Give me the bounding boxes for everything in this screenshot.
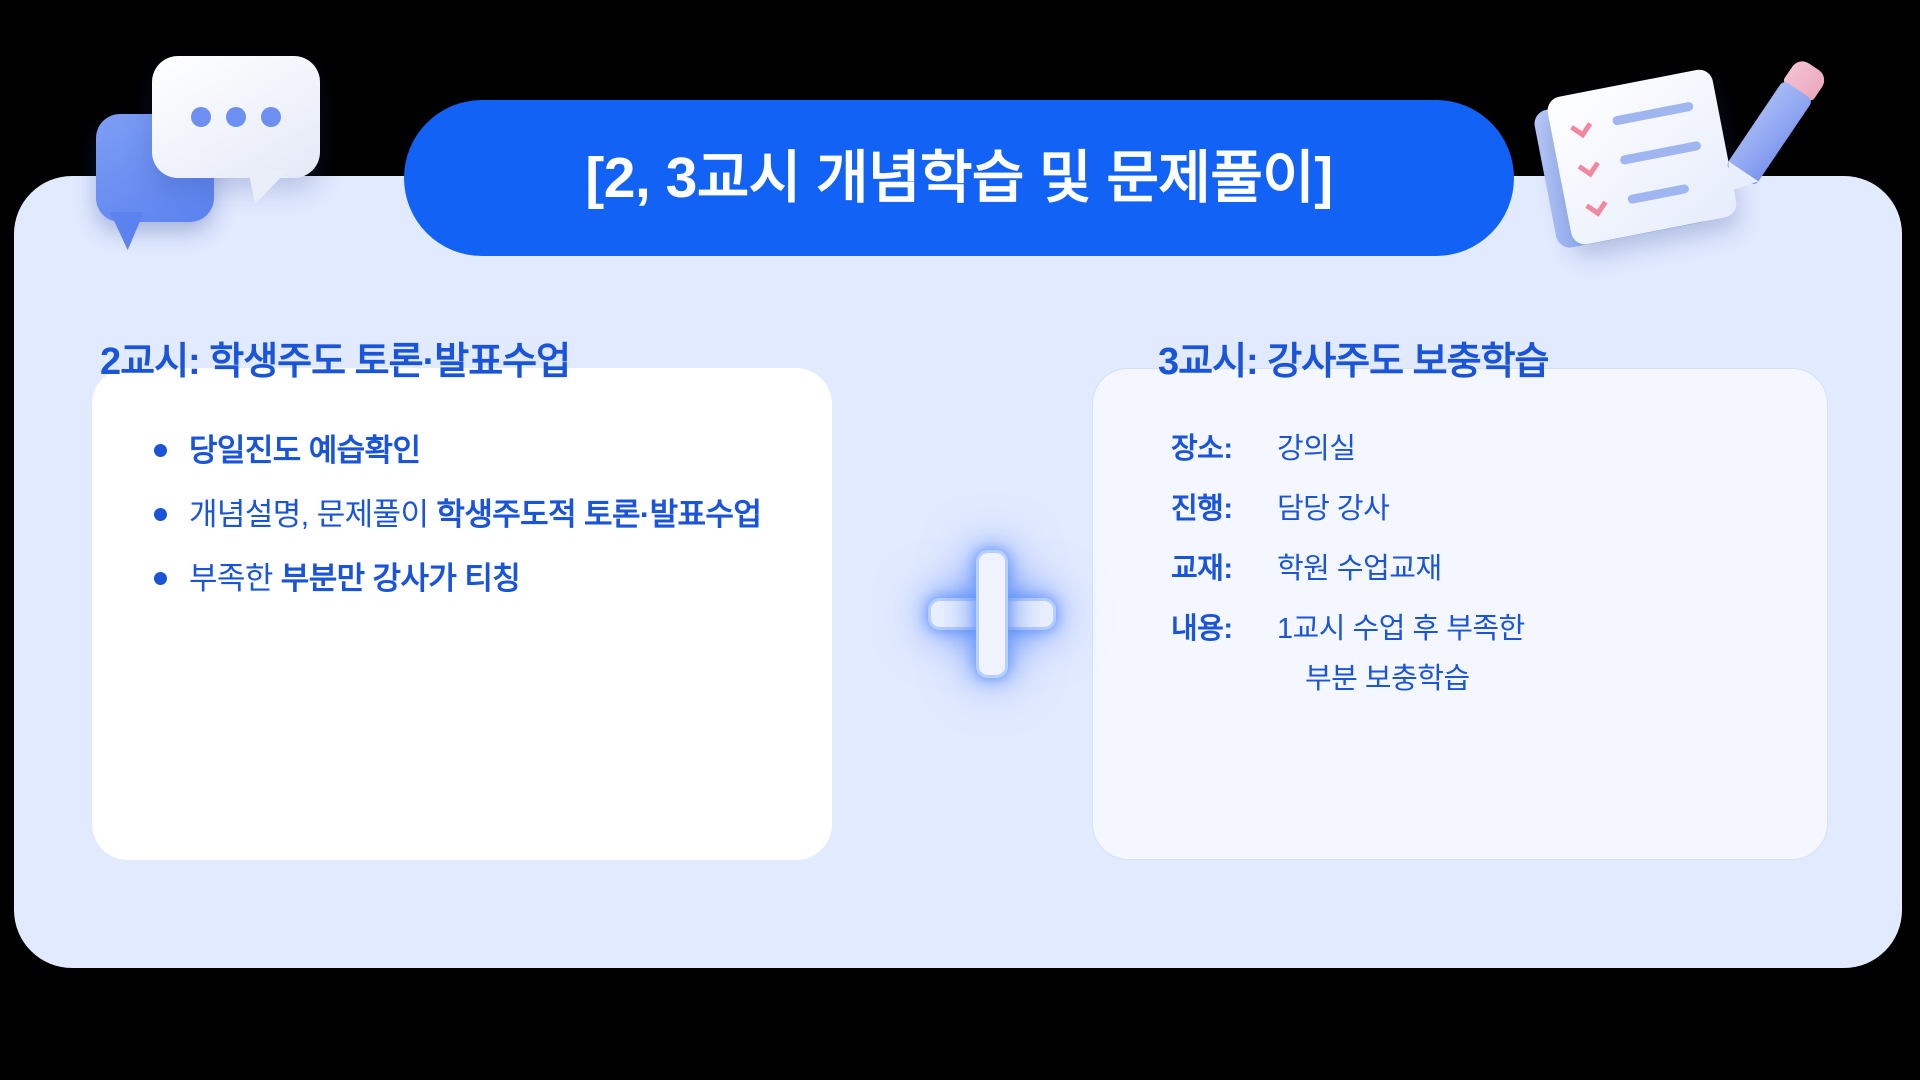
detail-label: 내용: [1171, 605, 1267, 655]
checklist-pencil-icon [1538, 52, 1798, 252]
bullet-text: 당일진도 예습확인 [189, 426, 420, 476]
bullet-item: 부족한 부분만 강사가 티칭 [154, 554, 804, 604]
detail-list: 장소:강의실진행:담당 강사교재:학원 수업교재내용:1교시 수업 후 부족한부… [1171, 425, 1803, 714]
plus-icon [918, 540, 1066, 688]
detail-value-continuation: 부분 보충학습 [1277, 655, 1525, 705]
detail-row: 교재:학원 수업교재 [1171, 545, 1803, 595]
detail-row: 내용:1교시 수업 후 부족한부분 보충학습 [1171, 605, 1803, 705]
title-pill: [2, 3교시 개념학습 및 문제풀이] [404, 100, 1514, 256]
bullet-dot-icon [154, 572, 167, 585]
note-line-1 [1612, 101, 1694, 125]
chat-bubble-front [152, 56, 320, 178]
chat-bubbles-icon [96, 42, 332, 262]
note-line-3 [1627, 184, 1690, 205]
detail-label: 교재: [1171, 545, 1267, 595]
chat-dot-3 [261, 107, 281, 127]
bullet-text: 개념설명, 문제풀이 학생주도적 토론·발표수업 [189, 490, 761, 540]
detail-value: 1교시 수업 후 부족한부분 보충학습 [1267, 605, 1525, 705]
check-mark-2 [1578, 155, 1600, 177]
detail-value: 담당 강사 [1267, 485, 1389, 535]
left-content-card: 당일진도 예습확인개념설명, 문제풀이 학생주도적 토론·발표수업부족한 부분만… [92, 368, 832, 860]
detail-label: 장소: [1171, 425, 1267, 475]
page-title: [2, 3교시 개념학습 및 문제풀이] [585, 150, 1332, 207]
note-line-2 [1619, 141, 1701, 165]
right-content-card: 장소:강의실진행:담당 강사교재:학원 수업교재내용:1교시 수업 후 부족한부… [1092, 368, 1828, 860]
detail-row: 진행:담당 강사 [1171, 485, 1803, 535]
bullet-text: 부족한 부분만 강사가 티칭 [189, 554, 520, 604]
check-mark-1 [1570, 116, 1592, 138]
bullet-dot-icon [154, 508, 167, 521]
bullet-dot-icon [154, 444, 167, 457]
check-mark-3 [1585, 194, 1607, 216]
chat-dot-1 [191, 107, 211, 127]
checklist-sheet [1545, 67, 1739, 246]
bullet-list: 당일진도 예습확인개념설명, 문제풀이 학생주도적 토론·발표수업부족한 부분만… [154, 426, 804, 619]
infographic-stage: [2, 3교시 개념학습 및 문제풀이] 2교시: 학생주도 토론·발표수업 3… [0, 0, 1920, 1080]
right-column-heading: 3교시: 강사주도 보충학습 [1158, 330, 1549, 385]
detail-value: 학원 수업교재 [1267, 545, 1442, 595]
plus-bar-vertical [976, 550, 1008, 678]
left-column-heading: 2교시: 학생주도 토론·발표수업 [100, 330, 570, 385]
detail-label: 진행: [1171, 485, 1267, 535]
chat-dot-2 [226, 107, 246, 127]
detail-value: 강의실 [1267, 425, 1356, 475]
bullet-item: 당일진도 예습확인 [154, 426, 804, 476]
bullet-item: 개념설명, 문제풀이 학생주도적 토론·발표수업 [154, 490, 804, 540]
detail-row: 장소:강의실 [1171, 425, 1803, 475]
